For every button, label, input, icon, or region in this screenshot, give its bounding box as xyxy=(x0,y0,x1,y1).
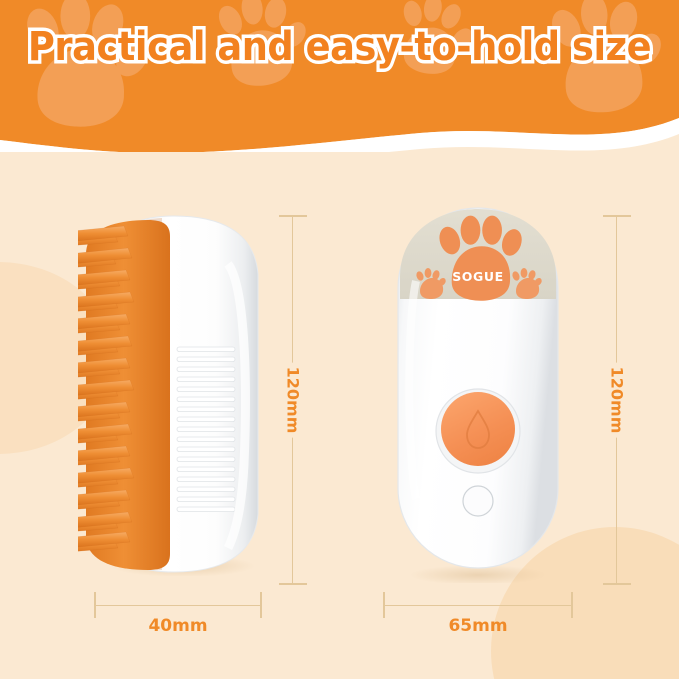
header-background-shape xyxy=(0,0,679,152)
page-title: Practical and easy-to-hold size xyxy=(27,25,652,69)
dimension-left-height: 120mm xyxy=(279,210,307,590)
dimension-cap-bottom xyxy=(603,583,631,585)
brand-name-text: SOGUE xyxy=(452,269,504,284)
product-brush-front-view: SOGUE xyxy=(383,203,573,583)
header-banner: Practical and easy-to-hold size xyxy=(0,0,679,152)
brush-front-illustration: SOGUE xyxy=(383,203,573,583)
header-orange-field xyxy=(0,0,679,152)
power-button[interactable] xyxy=(441,392,515,466)
dimension-cap-bottom xyxy=(279,583,307,585)
dimension-right-width: 65mm xyxy=(379,592,577,618)
infographic-canvas: Practical and easy-to-hold size xyxy=(0,0,679,679)
dimension-cap-right xyxy=(260,592,262,618)
brush-side-illustration xyxy=(78,214,273,576)
dimension-right-height-label: 120mm xyxy=(606,363,629,438)
led-indicator xyxy=(463,486,493,516)
product-brush-side-view xyxy=(78,214,273,576)
dimension-left-width-label: 40mm xyxy=(148,616,207,636)
dimension-right-width-label: 65mm xyxy=(448,616,507,636)
dimension-right-height: 120mm xyxy=(603,210,631,590)
dimension-shaft xyxy=(95,605,261,606)
dimension-shaft xyxy=(384,605,572,606)
brush-side-vent-grille xyxy=(177,347,235,512)
dimension-left-width: 40mm xyxy=(90,592,266,618)
dimension-left-height-label: 120mm xyxy=(282,363,305,438)
dimension-cap-right xyxy=(571,592,573,618)
